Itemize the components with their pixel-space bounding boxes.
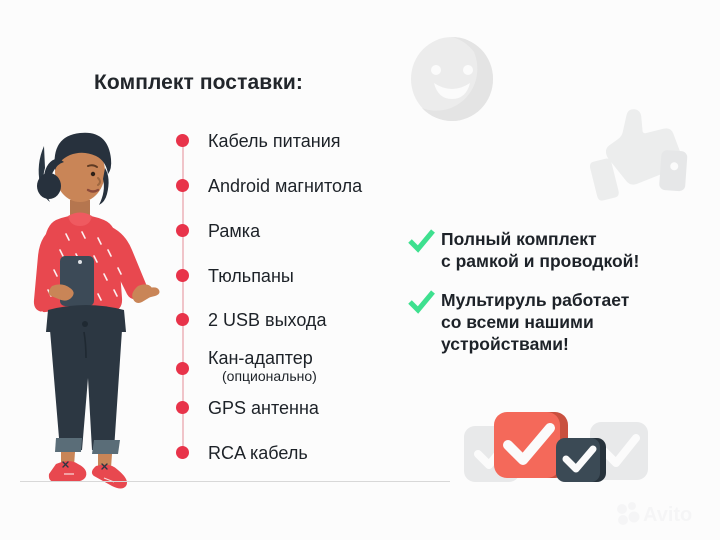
- list-item: Кабель питания: [176, 131, 406, 151]
- list-item-label: Рамка: [208, 221, 260, 241]
- list-item-label: RCA кабель: [208, 443, 308, 463]
- kit-contents-list: Кабель питания Android магнитола Рамка Т…: [176, 131, 406, 463]
- woman-pointing-illustration: [8, 108, 168, 508]
- list-item: Тюльпаны: [176, 266, 406, 286]
- list-item-label: Android магнитола: [208, 176, 362, 196]
- thumbs-up-icon: [572, 108, 694, 208]
- benefit-claim: Полный комплект с рамкой и проводкой!: [408, 228, 703, 272]
- smiley-face-icon: [400, 35, 505, 127]
- list-item: Рамка: [176, 221, 406, 241]
- bullet-dot-icon: [176, 179, 189, 192]
- ground-line: [20, 481, 450, 482]
- list-item: 2 USB выхода: [176, 310, 406, 330]
- bullet-dot-icon: [176, 362, 189, 375]
- list-item: Кан-адаптер (опционально): [176, 348, 406, 385]
- green-check-icon: [408, 290, 435, 314]
- bullet-dot-icon: [176, 269, 189, 282]
- list-item-label: Кабель питания: [208, 131, 341, 151]
- list-item-label: 2 USB выхода: [208, 310, 326, 330]
- list-item-label: Тюльпаны: [208, 266, 294, 286]
- bullet-dot-icon: [176, 134, 189, 147]
- list-item-label: Кан-адаптер: [208, 348, 406, 368]
- benefit-claim-text: Мультируль работает со всеми нашими устр…: [441, 289, 629, 355]
- list-item-label: GPS антенна: [208, 398, 319, 418]
- benefit-claim-text: Полный комплект с рамкой и проводкой!: [441, 228, 639, 272]
- checkbox-cards-icon: [460, 404, 650, 496]
- list-item: GPS антенна: [176, 398, 406, 418]
- bullet-dot-icon: [176, 313, 189, 326]
- bullet-dot-icon: [176, 401, 189, 414]
- benefit-claims-list: Полный комплект с рамкой и проводкой! Му…: [408, 228, 703, 372]
- benefit-claim: Мультируль работает со всеми нашими устр…: [408, 289, 703, 355]
- list-item-sublabel: (опционально): [222, 368, 406, 385]
- list-item: RCA кабель: [176, 443, 406, 463]
- bullet-dot-icon: [176, 446, 189, 459]
- bullet-dot-icon: [176, 224, 189, 237]
- list-item: Android магнитола: [176, 176, 406, 196]
- green-check-icon: [408, 229, 435, 253]
- page-title: Комплект поставки:: [94, 71, 303, 95]
- avito-watermark-label: Avito: [643, 504, 692, 526]
- promo-image-canvas: Комплект поставки: Кабель питания Androi…: [0, 0, 720, 540]
- avito-watermark: Avito: [616, 500, 712, 526]
